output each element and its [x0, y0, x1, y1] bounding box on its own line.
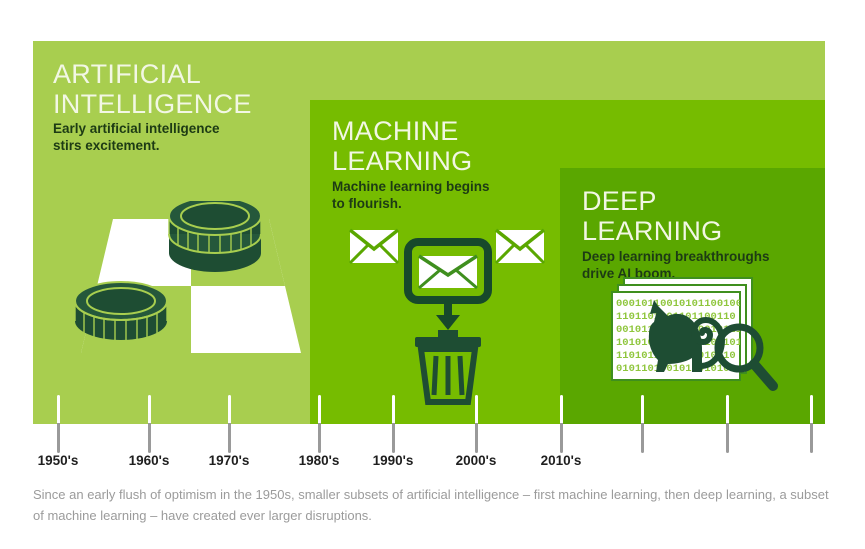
timeline-tick: [228, 395, 231, 453]
spam-filter-svg: [348, 220, 548, 410]
checkers-board-icon: [51, 201, 311, 386]
timeline-label: 1960's: [129, 453, 170, 468]
panel-subtitle-artificial-intelligence: Early artificial intelligence stirs exci…: [53, 120, 220, 154]
timeline-tick: [810, 395, 813, 453]
timeline-label: 1990's: [373, 453, 414, 468]
envelope-flagged-icon: [408, 242, 488, 300]
checkers-board-svg: [51, 201, 311, 386]
timeline-label: 1980's: [299, 453, 340, 468]
spam-filter-icon: [348, 220, 548, 410]
timeline-label: 2000's: [456, 453, 497, 468]
panel-title-deep-learning: DEEP LEARNING: [582, 186, 722, 246]
timeline-label: 2010's: [541, 453, 582, 468]
panel-deep-learning: DEEP LEARNING Deep learning breakthrough…: [560, 168, 825, 424]
cat-recognition-svg: 00010110010101100100 1101101001101100110…: [602, 274, 792, 399]
timeline-label: 1950's: [38, 453, 79, 468]
timeline-tick: [392, 395, 395, 453]
timeline-tick: [641, 395, 644, 453]
caption-text: Since an early flush of optimism in the …: [33, 484, 833, 526]
cat-recognition-icon: 00010110010101100100 1101101001101100110…: [602, 274, 792, 399]
svg-text:00010110010101100100: 00010110010101100100: [616, 298, 742, 310]
arrow-down-icon: [436, 300, 460, 330]
timeline-tick: [57, 395, 60, 453]
timeline-tick: [475, 395, 478, 453]
checker-stack: [169, 201, 261, 272]
timeline-tick: [318, 395, 321, 453]
panel-title-artificial-intelligence: ARTIFICIAL INTELLIGENCE: [53, 59, 252, 119]
envelope-right-icon: [496, 230, 544, 263]
timeline-tick: [726, 395, 729, 453]
trash-can-icon: [415, 330, 481, 402]
timeline-axis: 1950's 1960's 1970's 1980's 1990's 2000'…: [0, 395, 865, 475]
envelope-left-icon: [350, 230, 398, 263]
timeline-tick: [148, 395, 151, 453]
timeline-tick: [560, 395, 563, 453]
infographic-canvas: ARTIFICIAL INTELLIGENCE Early artificial…: [0, 0, 865, 549]
panel-subtitle-machine-learning: Machine learning begins to flourish.: [332, 178, 490, 212]
panel-title-machine-learning: MACHINE LEARNING: [332, 116, 472, 176]
timeline-label: 1970's: [209, 453, 250, 468]
checker-piece: [75, 282, 167, 340]
